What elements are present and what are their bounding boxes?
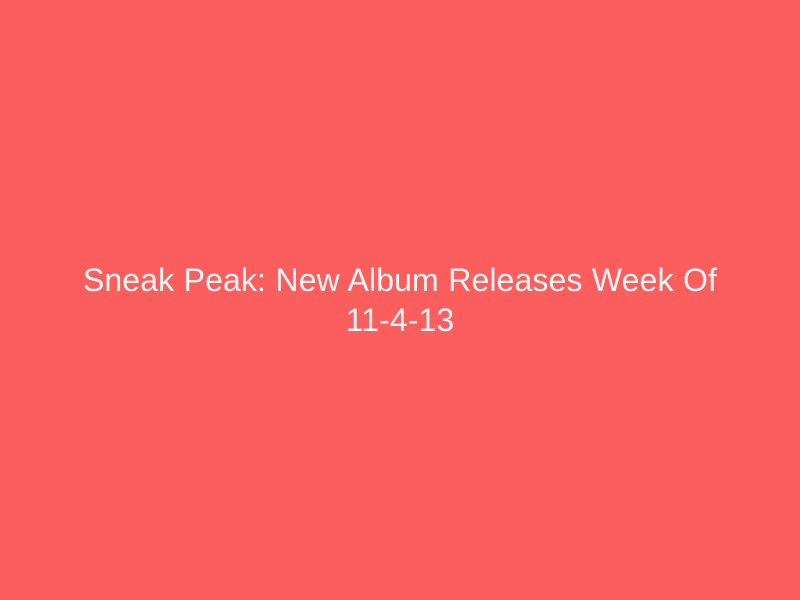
title-block: Sneak Peak: New Album Releases Week Of 1… <box>79 260 721 340</box>
placeholder-image-canvas: Sneak Peak: New Album Releases Week Of 1… <box>0 0 800 600</box>
page-title: Sneak Peak: New Album Releases Week Of 1… <box>79 260 721 340</box>
